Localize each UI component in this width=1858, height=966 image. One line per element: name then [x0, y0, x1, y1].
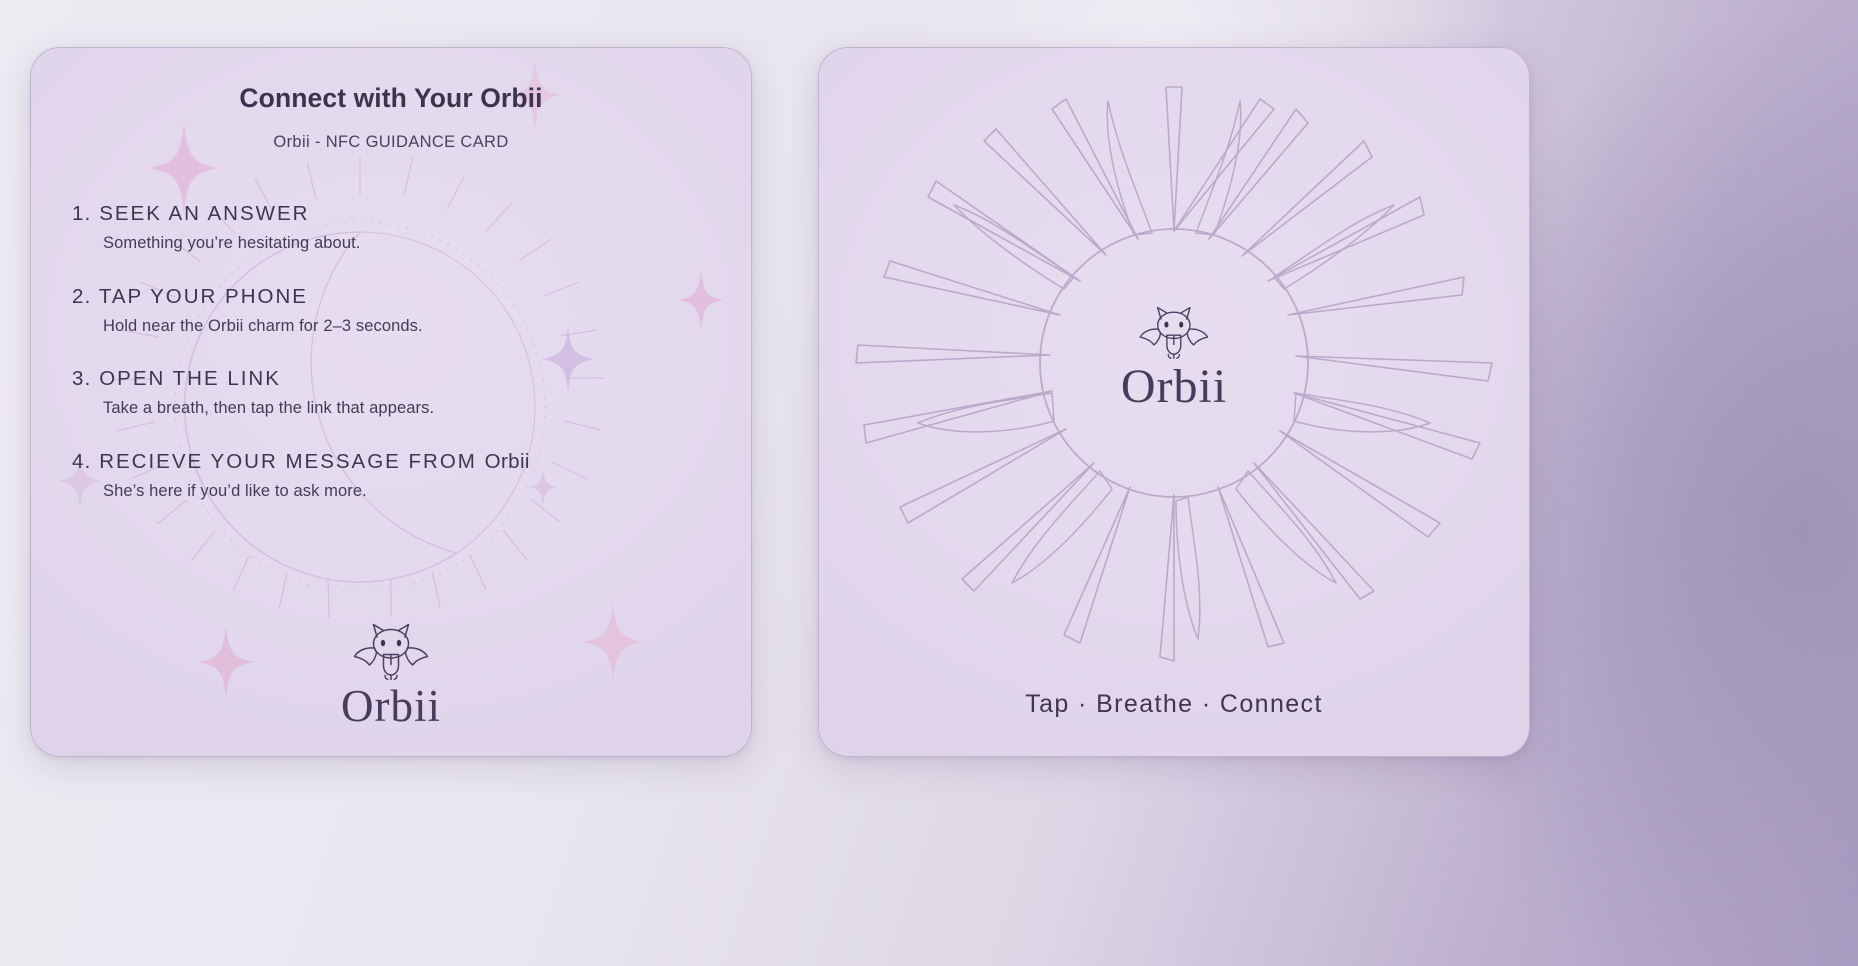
brand-wordmark: Orbii — [1121, 363, 1227, 411]
step-number: 4. — [72, 450, 92, 473]
brand-wordmark: Orbii — [30, 684, 752, 729]
step-heading: 1. SEEK AN ANSWER — [72, 202, 722, 226]
guidance-card-back[interactable]: Orbii Tap · Breathe · Connect — [818, 47, 1530, 757]
guidance-card-front[interactable]: Connect with Your Orbii Orbii - NFC GUID… — [30, 47, 752, 757]
page-title: Connect with Your Orbii — [30, 83, 752, 114]
list-item: 1. SEEK AN ANSWER Something you’re hesit… — [72, 202, 722, 253]
tagline: Tap · Breathe · Connect — [818, 690, 1530, 719]
step-heading-text: RECIEVE YOUR MESSAGE FROM — [99, 450, 477, 473]
card-stage: Connect with Your Orbii Orbii - NFC GUID… — [0, 0, 1858, 966]
step-description: Take a breath, then tap the link that ap… — [103, 399, 722, 418]
list-item: 2. TAP YOUR PHONE Hold near the Orbii ch… — [72, 285, 722, 336]
step-description: Something you’re hesitating about. — [103, 234, 722, 253]
step-heading-text: SEEK AN ANSWER — [99, 202, 309, 225]
step-number: 2. — [72, 285, 92, 308]
step-description: Hold near the Orbii charm for 2–3 second… — [103, 317, 722, 336]
step-heading-brand: Orbii — [485, 450, 530, 473]
step-heading-text: TAP YOUR PHONE — [99, 285, 308, 308]
step-heading: 4. RECIEVE YOUR MESSAGE FROM Orbii — [72, 450, 722, 474]
list-item: 4. RECIEVE YOUR MESSAGE FROM Orbii She’s… — [72, 450, 722, 501]
step-heading: 2. TAP YOUR PHONE — [72, 285, 722, 309]
winged-cat-icon — [352, 620, 430, 682]
winged-cat-icon — [1138, 303, 1210, 361]
step-heading-text: OPEN THE LINK — [99, 367, 281, 390]
steps-list: 1. SEEK AN ANSWER Something you’re hesit… — [72, 202, 722, 532]
card-subtitle: Orbii - NFC GUIDANCE CARD — [30, 133, 752, 152]
step-description: She’s here if you’d like to ask more. — [103, 482, 722, 501]
step-number: 3. — [72, 367, 92, 390]
brand-lockup: Orbii — [1121, 303, 1227, 411]
list-item: 3. OPEN THE LINK Take a breath, then tap… — [72, 367, 722, 418]
step-heading: 3. OPEN THE LINK — [72, 367, 722, 391]
step-number: 1. — [72, 202, 92, 225]
brand-lockup: Orbii — [30, 620, 752, 729]
